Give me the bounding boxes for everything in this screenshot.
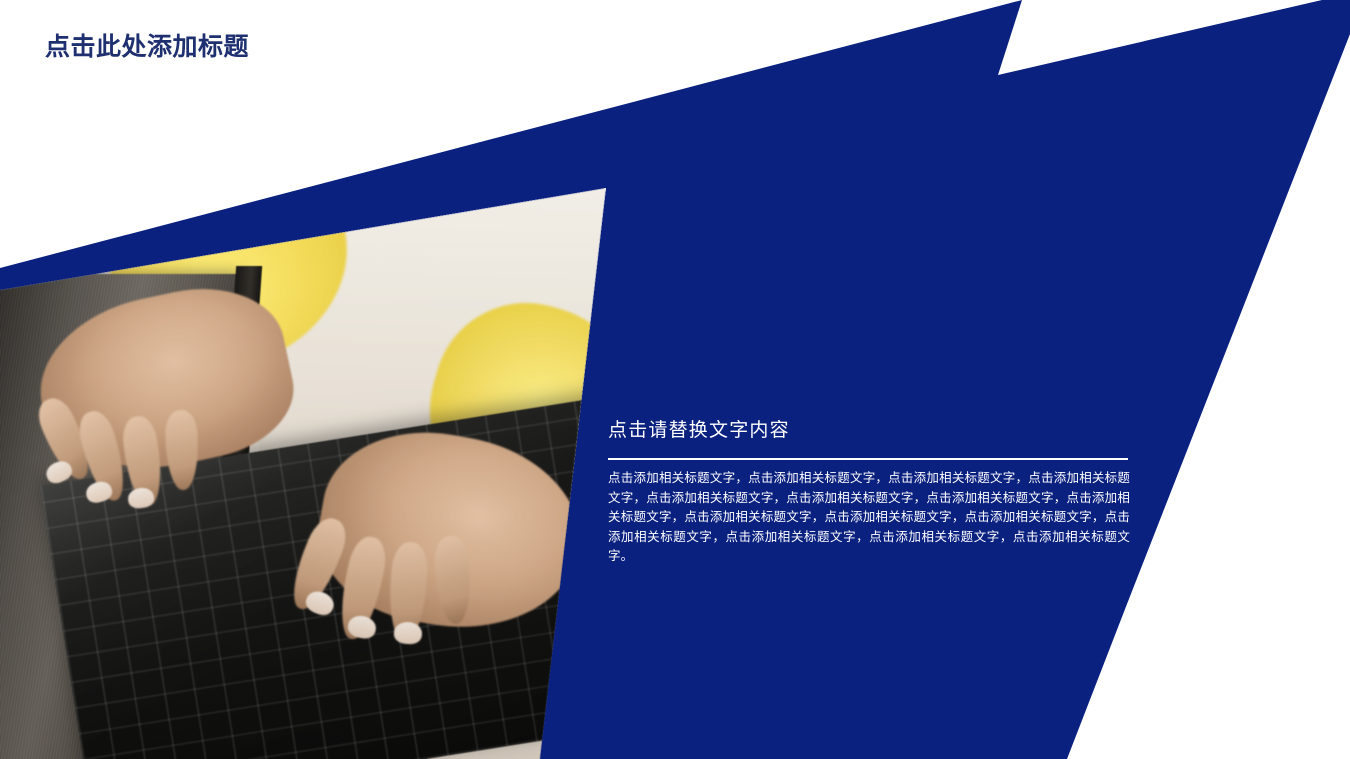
content-heading: 点击请替换文字内容 — [608, 418, 1130, 444]
slide-canvas: 点击此处添加标题 点击请替换文字内容 点击添加相关标题文字，点击添加相关标题文字… — [0, 0, 1350, 759]
content-body-text: 点击添加相关标题文字，点击添加相关标题文字，点击添加相关标题文字，点击添加相关标… — [608, 469, 1130, 567]
page-title: 点击此处添加标题 — [45, 27, 249, 63]
heading-divider — [608, 458, 1128, 460]
content-block: 点击请替换文字内容 点击添加相关标题文字，点击添加相关标题文字，点击添加相关标题… — [608, 418, 1130, 567]
